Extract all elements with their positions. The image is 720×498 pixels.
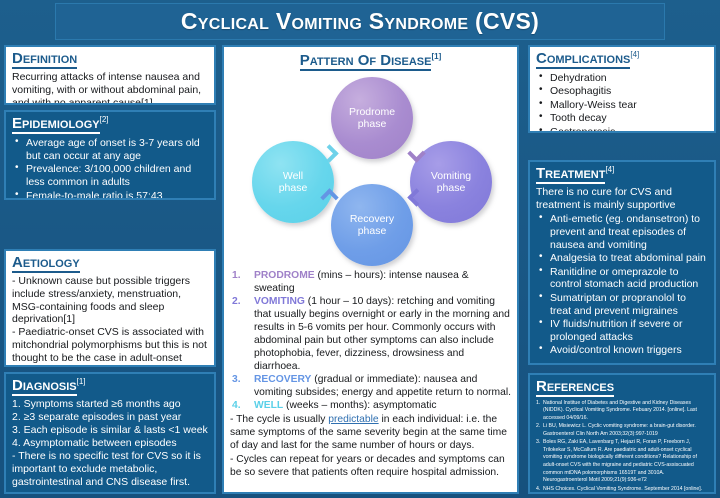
epidemiology-list: Average age of onset is 3-7 years old bu… [12, 137, 208, 200]
pattern-heading-wrap: Pattern of Disease[1] [230, 52, 511, 69]
definition-text: Recurring attacks of intense nausea and … [12, 71, 208, 105]
cycle-node-label: phase [358, 118, 387, 130]
list-item: 1. Symptoms started ≥6 months ago [12, 398, 208, 411]
list-item: Analgesia to treat abdominal pain [536, 252, 708, 265]
references-heading: References [536, 379, 614, 397]
section-diagnosis: Diagnosis[1] 1. Symptoms started ≥6 mont… [4, 372, 216, 494]
arrow-well-to-prodrome-icon [323, 147, 335, 159]
definition-heading: Definition [12, 51, 77, 69]
treatment-heading-wrap: Treatment[4] [536, 165, 708, 186]
list-item: 4. Asymptomatic between episodes [12, 437, 208, 450]
aetiology-line: - Unknown cause but possible triggers in… [12, 275, 208, 327]
complications-list: Dehydration Oesophagitis Mallory-Weiss t… [536, 72, 708, 133]
cycle-node-label: phase [437, 182, 466, 194]
cycle-node-recovery: Recovery phase [331, 184, 413, 266]
diagnosis-ref: [1] [77, 377, 86, 386]
treatment-intro: There is no cure for CVS and treatment i… [536, 186, 708, 212]
phase-keyword: PRODROME [254, 270, 315, 281]
references-list: National Institue of Diabetes and Digest… [536, 400, 708, 494]
pattern-note-one-pre: - The cycle is usually [230, 414, 328, 425]
section-references: References National Institue of Diabetes… [528, 373, 716, 494]
diagnosis-note: - There is no specific test for CVS so i… [12, 450, 208, 489]
section-treatment: Treatment[4] There is no cure for CVS an… [528, 160, 716, 365]
cycle-node-prodrome: Prodrome phase [331, 77, 413, 159]
cycle-node-label: Prodrome [349, 106, 395, 118]
list-item: Gastroparesis [536, 126, 708, 133]
cycle-node-label: Recovery [350, 213, 394, 225]
aetiology-heading: Aetiology [12, 255, 80, 273]
list-item: WELL (weeks – months): asymptomatic [230, 400, 511, 413]
list-item: Ranitidine or omeprazole to control stom… [536, 266, 708, 292]
poster-root: Cyclical Vomiting Syndrome (CVS) Definit… [0, 0, 720, 498]
list-item: Oesophagitis [536, 85, 708, 98]
diagnosis-heading: Diagnosis [12, 378, 77, 396]
list-item: NHS Choices. Cyclical Vomiting Syndrome.… [536, 486, 708, 494]
epidemiology-heading-wrap: Epidemiology[2] [12, 115, 208, 136]
complications-heading: Complications [536, 51, 630, 69]
treatment-heading: Treatment [536, 166, 605, 184]
list-item: VOMITING (1 hour – 10 days): retching an… [230, 296, 511, 374]
list-item: 2. ≥3 separate episodes in past year [12, 411, 208, 424]
phase-keyword: WELL [254, 400, 283, 411]
aetiology-line: - Paediatric-onset CVS is associated wit… [12, 326, 208, 367]
list-item: Tooth decay [536, 112, 708, 125]
epidemiology-ref: [2] [100, 115, 109, 124]
list-item: Anti-emetic (eg. ondansetron) to prevent… [536, 213, 708, 252]
list-item: Female-to-male ratio is 57:43 [12, 190, 208, 200]
list-item: Boles RG, Zaki EA, Lavenbarg T, Hejazi R… [536, 439, 708, 484]
phase-list: PRODROME (mins – hours): intense nausea … [230, 270, 511, 413]
arrow-prodrome-to-vomiting-icon [410, 147, 422, 159]
list-item: Sumatriptan or propranolol to treat and … [536, 292, 708, 318]
list-item: Li BU, Misiewicz L. Cyclic vomiting synd… [536, 423, 708, 438]
epidemiology-heading: Epidemiology [12, 116, 100, 134]
pattern-note-two: - Cycles can repeat for years or decades… [230, 454, 511, 480]
disease-cycle-diagram: Prodrome phase Vomiting phase Recovery p… [230, 71, 515, 269]
treatment-list: Anti-emetic (eg. ondansetron) to prevent… [536, 213, 708, 357]
section-complications: Complications[4] Dehydration Oesophagiti… [528, 45, 716, 133]
section-pattern-of-disease: Pattern of Disease[1] Prodrome phase Vom… [222, 45, 519, 494]
aetiology-body: - Unknown cause but possible triggers in… [12, 275, 208, 367]
section-definition: Definition Recurring attacks of intense … [4, 45, 216, 105]
list-item: Prevalence: 3/100,000 children and less … [12, 163, 208, 189]
list-item: Mallory-Weiss tear [536, 99, 708, 112]
diagnosis-criteria: 1. Symptoms started ≥6 months ago 2. ≥3 … [12, 398, 208, 488]
list-item: RECOVERY (gradual or immediate): nausea … [230, 374, 511, 400]
page-title: Cyclical Vomiting Syndrome (CVS) [181, 8, 539, 35]
complications-ref: [4] [630, 50, 639, 59]
section-aetiology: Aetiology - Unknown cause but possible t… [4, 249, 216, 367]
list-item: Average age of onset is 3-7 years old bu… [12, 137, 208, 163]
poster-title-bar: Cyclical Vomiting Syndrome (CVS) [55, 3, 665, 40]
section-epidemiology: Epidemiology[2] Average age of onset is … [4, 110, 216, 200]
pattern-note-one: - The cycle is usually predictable in ea… [230, 414, 511, 453]
pattern-ref: [1] [431, 52, 441, 61]
diagnosis-heading-wrap: Diagnosis[1] [12, 377, 208, 398]
phase-keyword: RECOVERY [254, 374, 311, 385]
list-item: IV fluids/nutrition if severe or prolong… [536, 318, 708, 344]
phase-text: (weeks – months): asymptomatic [283, 400, 436, 411]
pattern-note-link: predictable [328, 414, 378, 425]
cycle-node-label: Well [283, 170, 303, 182]
list-item: National Institue of Diabetes and Digest… [536, 400, 708, 423]
cycle-node-label: Vomiting [431, 170, 471, 182]
list-item: 3. Each episode is similar & lasts <1 we… [12, 424, 208, 437]
phase-text: (1 hour – 10 days): retching and vomitin… [254, 296, 510, 372]
phase-keyword: VOMITING [254, 296, 305, 307]
cycle-node-label: phase [279, 182, 308, 194]
arrow-recovery-to-well-icon [323, 191, 335, 203]
list-item: Dehydration [536, 72, 708, 85]
list-item: Avoid/control known triggers [536, 344, 708, 357]
treatment-ref: [4] [605, 165, 614, 174]
cycle-node-label: phase [358, 225, 387, 237]
pattern-heading: Pattern of Disease [300, 52, 432, 71]
complications-heading-wrap: Complications[4] [536, 50, 708, 71]
arrow-vomiting-to-recovery-icon [410, 191, 422, 203]
list-item: PRODROME (mins – hours): intense nausea … [230, 270, 511, 296]
